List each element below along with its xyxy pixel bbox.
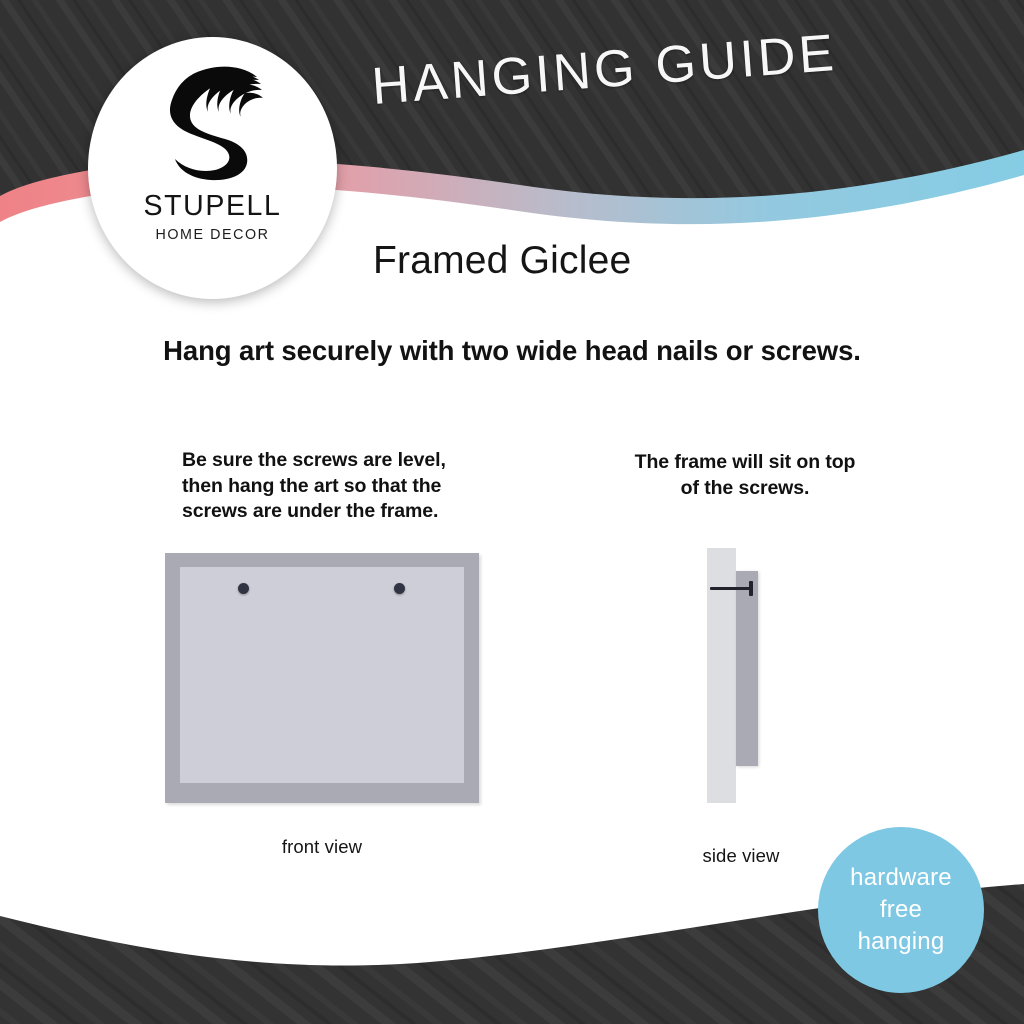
side-view-caption: The frame will sit on top of the screws. [600,450,890,501]
screw-dot-left [238,583,249,594]
side-view-diagram [707,548,792,803]
brand-logo-badge: STUPELL HOME DECOR [88,37,337,299]
side-view-label: side view [655,845,827,867]
brand-name: STUPELL [144,192,282,221]
badge-line-3: hanging [858,927,945,957]
front-view-caption-line-1: Be sure the screws are level, [182,448,482,474]
side-view-caption-line-1: The frame will sit on top [600,450,890,476]
screw-dot-right [394,583,405,594]
stupell-s-swoosh-logo-icon [157,59,269,184]
nail-shaft-icon [710,587,752,590]
badge-line-1: hardware [850,863,952,893]
frame-mat-area [180,567,464,783]
nail-head-icon [749,581,753,596]
product-type-label: Framed Giclee [373,239,631,283]
badge-line-2: free [880,895,922,925]
main-instruction-text: Hang art securely with two wide head nai… [0,335,1024,367]
page-title: HANGING GUIDE [369,8,894,128]
brand-tagline: HOME DECOR [156,228,270,242]
hanging-guide-page: STUPELL HOME DECOR HANGING GUIDE Framed … [0,0,1024,1024]
front-view-caption: Be sure the screws are level, then hang … [182,448,482,525]
front-view-label: front view [165,836,479,858]
front-view-diagram [165,553,479,803]
front-view-caption-line-2: then hang the art so that the [182,474,482,500]
side-view-caption-line-2: of the screws. [600,476,890,502]
frame-side-profile [736,571,758,766]
hardware-free-hanging-badge: hardware free hanging [818,827,984,993]
front-view-caption-line-3: screws are under the frame. [182,499,482,525]
